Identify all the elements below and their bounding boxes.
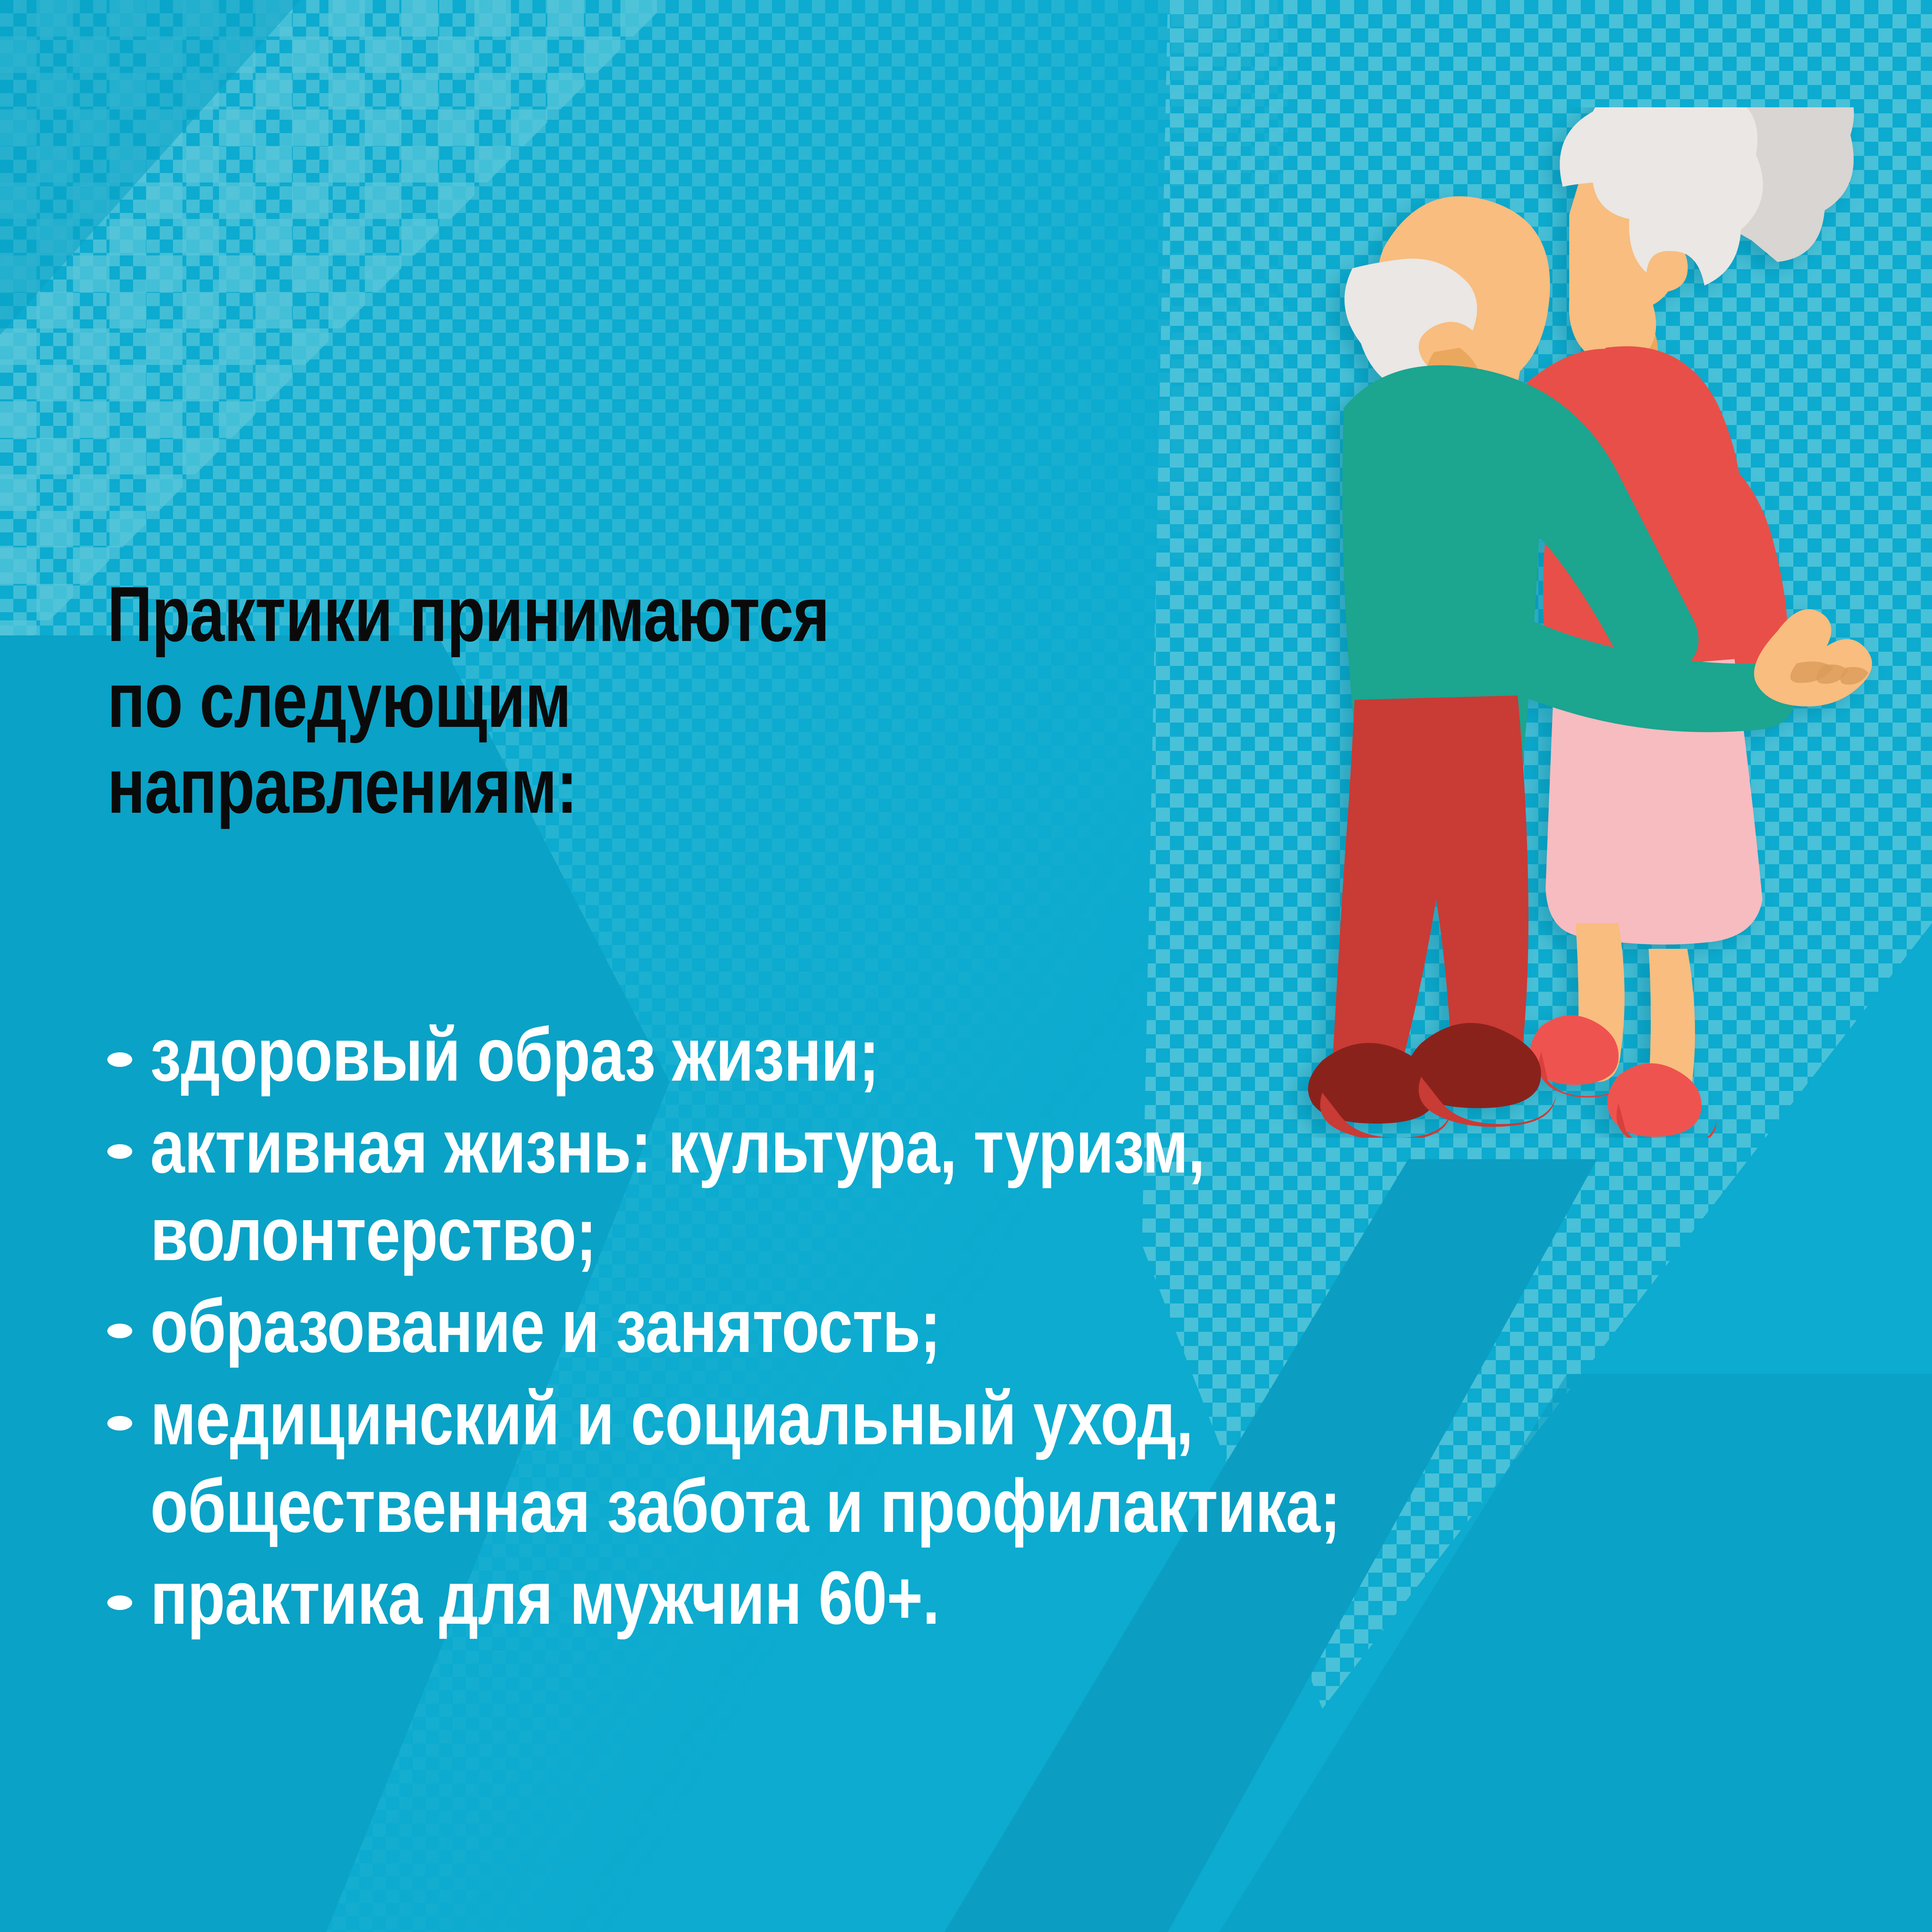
bullet-marker-icon	[107, 1144, 132, 1159]
list-item-label: здоровый образ жизни;	[150, 1011, 1523, 1099]
list-item: здоровый образ жизни;	[107, 1011, 1932, 1099]
bullet-marker-icon	[107, 1416, 132, 1431]
list-item: практика для мужчин 60+.	[107, 1554, 1932, 1642]
page-title: Практики принимаются по следующим направ…	[107, 571, 966, 829]
list-item-label: практика для мужчин 60+.	[150, 1554, 1523, 1642]
list-item: образование и занятость;	[107, 1282, 1932, 1370]
bullet-marker-icon	[107, 1052, 132, 1067]
list-item-label: образование и занятость;	[150, 1282, 1523, 1370]
elderly-couple-dancing-illustration	[1279, 107, 1932, 1138]
list-item: медицинский и социальный уход, обществен…	[107, 1375, 1932, 1550]
bullet-marker-icon	[107, 1595, 132, 1610]
bullet-marker-icon	[107, 1324, 132, 1338]
list-item-label: медицинский и социальный уход, обществен…	[150, 1375, 1523, 1550]
list-item: активная жизнь: культура, туризм, волонт…	[107, 1103, 1932, 1278]
bullet-list: здоровый образ жизни; активная жизнь: ку…	[107, 1011, 1932, 1646]
list-item-label: активная жизнь: культура, туризм, волонт…	[150, 1103, 1523, 1278]
poster-canvas: Практики принимаются по следующим направ…	[0, 0, 1932, 1932]
